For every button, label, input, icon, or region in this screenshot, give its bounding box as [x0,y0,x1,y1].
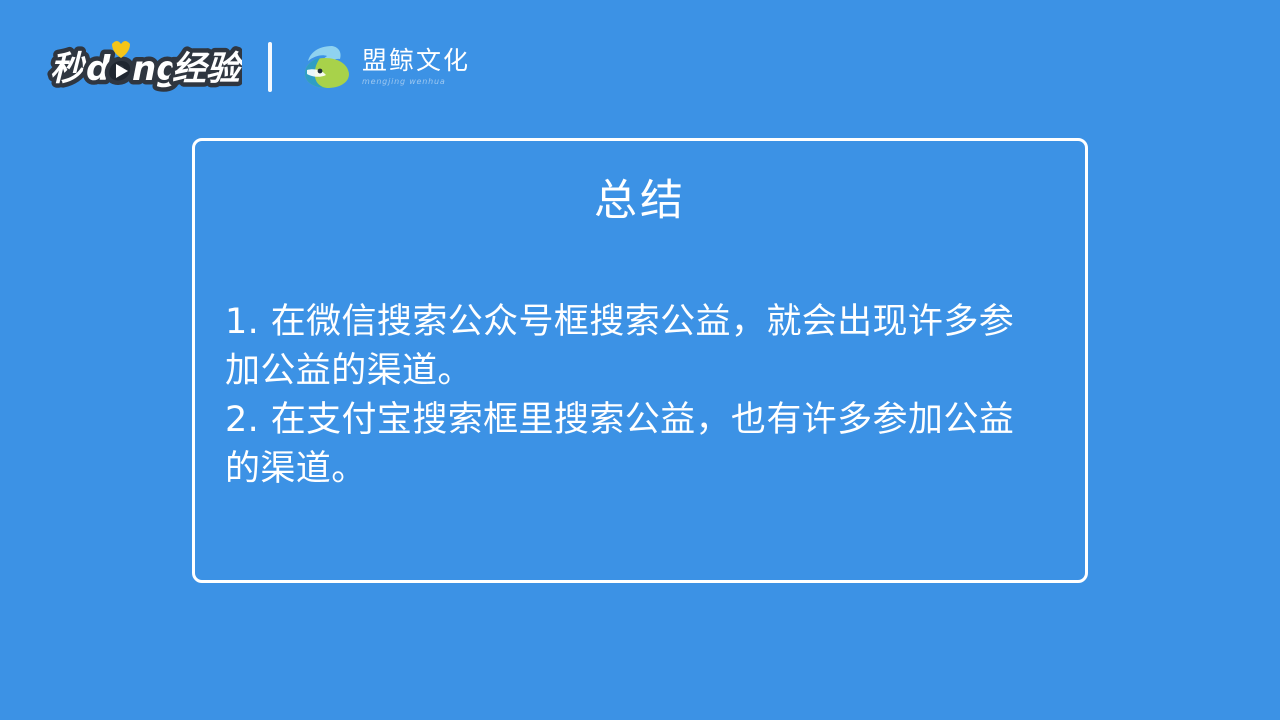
svg-text:秒: 秒 [50,49,87,89]
slide-root: 秒 秒 d d o o ng ng 经验 经验 [0,0,1280,720]
summary-card: 总结 1. 在微信搜索公众号框搜索公益，就会出现许多参 加公益的渠道。 2. 在… [192,138,1088,583]
svg-text:经验: 经验 [172,49,242,89]
card-body: 1. 在微信搜索公众号框搜索公益，就会出现许多参 加公益的渠道。 2. 在支付宝… [195,226,1085,494]
miaodong-logo-icon: 秒 秒 d d o o ng ng 经验 经验 [46,38,242,96]
secondary-brand-text: 盟鲸文化 mengjing wenhua [362,48,470,86]
secondary-brand-subtitle: mengjing wenhua [362,78,470,86]
body-line: 1. 在微信搜索公众号框搜索公益，就会出现许多参 [225,298,1057,347]
header-branding: 秒 秒 d d o o ng ng 经验 经验 [46,36,470,98]
brand-divider [268,42,272,92]
card-title: 总结 [195,141,1085,226]
primary-brand-logo: 秒 秒 d d o o ng ng 经验 经验 [46,38,242,96]
whale-icon [302,44,352,90]
body-line: 2. 在支付宝搜索框里搜索公益，也有许多参加公益 [225,396,1057,445]
body-line: 的渠道。 [225,445,1057,494]
body-line: 加公益的渠道。 [225,347,1057,396]
secondary-brand-logo: 盟鲸文化 mengjing wenhua [302,39,470,95]
secondary-brand-name: 盟鲸文化 [362,48,470,73]
